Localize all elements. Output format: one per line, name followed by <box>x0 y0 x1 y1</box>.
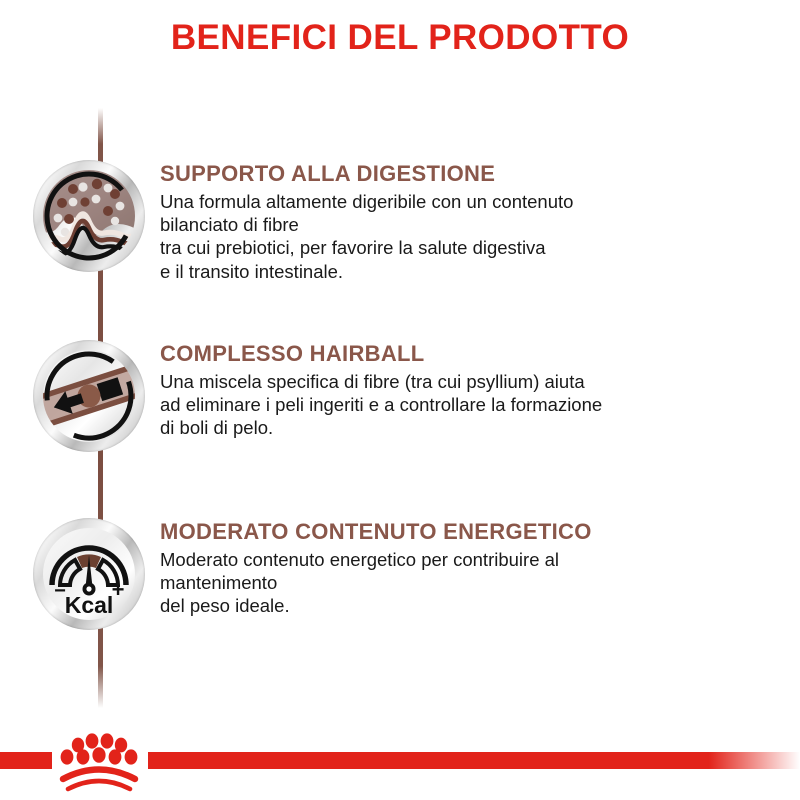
page-title: BENEFICI DEL PRODOTTO <box>0 18 800 58</box>
product-benefits-page: BENEFICI DEL PRODOTTO <box>0 0 800 800</box>
benefit-text-slot: COMPLESSO HAIRBALL Una miscela specifica… <box>160 340 626 440</box>
kcal-label: Kcal <box>65 592 114 618</box>
digestion-icon <box>33 160 145 272</box>
energy-gauge-icon: − + Kcal <box>33 518 145 630</box>
plus-sign: + <box>112 577 125 602</box>
benefit-row-hairball: COMPLESSO HAIRBALL Una miscela specifica… <box>0 340 800 452</box>
benefit-text-slot: SUPPORTO ALLA DIGESTIONE Una formula alt… <box>160 160 597 283</box>
benefit-body: Moderato contenuto energetico per contri… <box>160 548 592 618</box>
hairball-icon-svg <box>42 349 136 443</box>
footer <box>0 742 800 800</box>
benefit-icon-slot <box>0 340 160 452</box>
footer-bar-right <box>148 752 800 769</box>
hairball-icon-inner <box>42 349 136 443</box>
benefit-body: Una formula altamente digeribile con un … <box>160 190 573 283</box>
benefit-body: Una miscela specifica di fibre (tra cui … <box>160 370 602 440</box>
page-title-bar: BENEFICI DEL PRODOTTO <box>0 18 800 58</box>
hairball-icon <box>33 340 145 452</box>
benefit-heading: COMPLESSO HAIRBALL <box>160 342 602 367</box>
benefit-heading: SUPPORTO ALLA DIGESTIONE <box>160 162 573 187</box>
royal-canin-crown-logo <box>52 724 148 798</box>
energy-gauge-icon-inner: − + Kcal <box>42 527 136 621</box>
digestion-icon-inner <box>42 169 136 263</box>
benefit-text-slot: MODERATO CONTENUTO ENERGETICO Moderato c… <box>160 518 616 618</box>
benefit-icon-slot <box>0 160 160 272</box>
benefit-heading: MODERATO CONTENUTO ENERGETICO <box>160 520 592 545</box>
benefit-row-energy: − + Kcal MODERATO CONTENUTO ENERGETICO M… <box>0 518 800 630</box>
footer-bar-left <box>0 752 52 769</box>
energy-gauge-icon-svg: − + Kcal <box>42 527 136 621</box>
digestion-icon-svg <box>42 169 136 263</box>
benefit-row-digestion: SUPPORTO ALLA DIGESTIONE Una formula alt… <box>0 160 800 283</box>
benefit-icon-slot: − + Kcal <box>0 518 160 630</box>
